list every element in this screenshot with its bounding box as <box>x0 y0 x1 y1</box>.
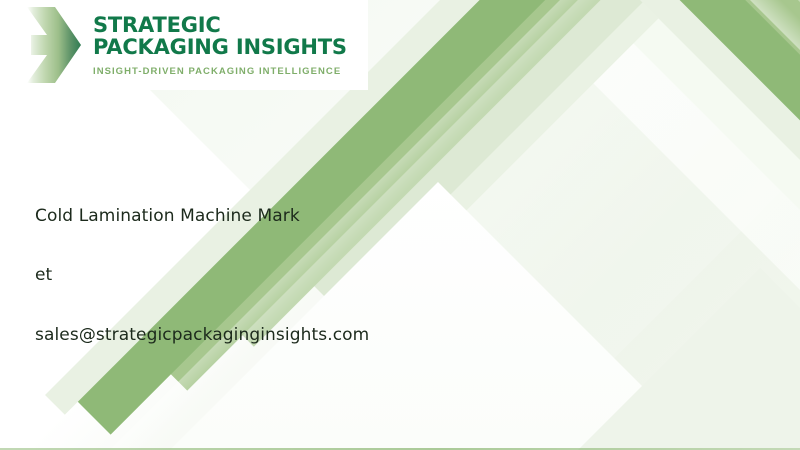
contact-email[interactable]: sales@strategicpackaginginsights.com <box>35 325 465 345</box>
logo-tagline: INSIGHT-DRIVEN PACKAGING INTELLIGENCE <box>93 66 347 77</box>
logo-text-block: STRATEGIC PACKAGING INSIGHTS INSIGHT-DRI… <box>93 13 347 77</box>
logo-name-line-2: PACKAGING INSIGHTS <box>93 37 347 58</box>
logo-name-line-1: STRATEGIC <box>93 15 347 36</box>
chevron-mark-icon <box>25 5 83 85</box>
document-title-line-2: et <box>35 265 465 285</box>
document-title: Cold Lamination Machine Mark et <box>35 206 465 285</box>
cover-text-block: Cold Lamination Machine Mark et sales@st… <box>35 206 465 345</box>
logo-lockup: STRATEGIC PACKAGING INSIGHTS INSIGHT-DRI… <box>16 0 368 90</box>
report-cover-slide: STRATEGIC PACKAGING INSIGHTS INSIGHT-DRI… <box>0 0 800 450</box>
document-title-line-1: Cold Lamination Machine Mark <box>35 206 300 226</box>
